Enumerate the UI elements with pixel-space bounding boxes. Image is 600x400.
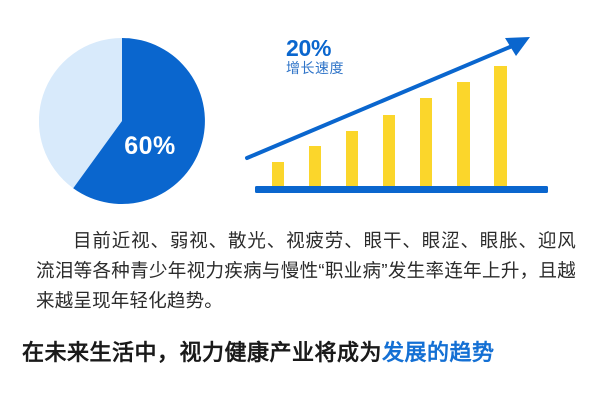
headline: 在未来生活中，视力健康产业将成为发展的趋势: [22, 340, 582, 366]
bar-5: [420, 98, 432, 186]
body-paragraph-block: 目前近视、弱视、散光、视疲劳、眼干、眼涩、眼胀、迎风流泪等各种青少年视力疾病与慢…: [36, 226, 576, 316]
charts-region: 60% 20%: [0, 0, 600, 215]
bar-6: [457, 82, 470, 186]
bar-chart-baseline: [255, 186, 548, 193]
pie-slice-major-label: 60%: [39, 134, 205, 159]
growth-rate-caption: 增长速度: [286, 61, 344, 76]
pie-chart: 60%: [39, 38, 205, 204]
bar-2: [309, 146, 321, 186]
bar-7: [494, 66, 507, 186]
headline-prefix: 在未来生活中，视力健康产业将成为: [22, 340, 382, 365]
bar-1: [272, 162, 284, 186]
growth-rate-value: 20%: [286, 36, 344, 60]
bar-chart: 20% 增长速度: [236, 28, 556, 203]
infographic-slide: 60% 20%: [0, 0, 600, 400]
headline-accent: 发展的趋势: [382, 340, 495, 365]
growth-callout: 20% 增长速度: [286, 36, 344, 76]
bar-chart-svg: [236, 28, 556, 203]
bar-3: [346, 131, 358, 186]
bar-4: [383, 115, 395, 186]
body-paragraph: 目前近视、弱视、散光、视疲劳、眼干、眼涩、眼胀、迎风流泪等各种青少年视力疾病与慢…: [36, 226, 576, 316]
pie-chart-svg: [39, 38, 205, 204]
